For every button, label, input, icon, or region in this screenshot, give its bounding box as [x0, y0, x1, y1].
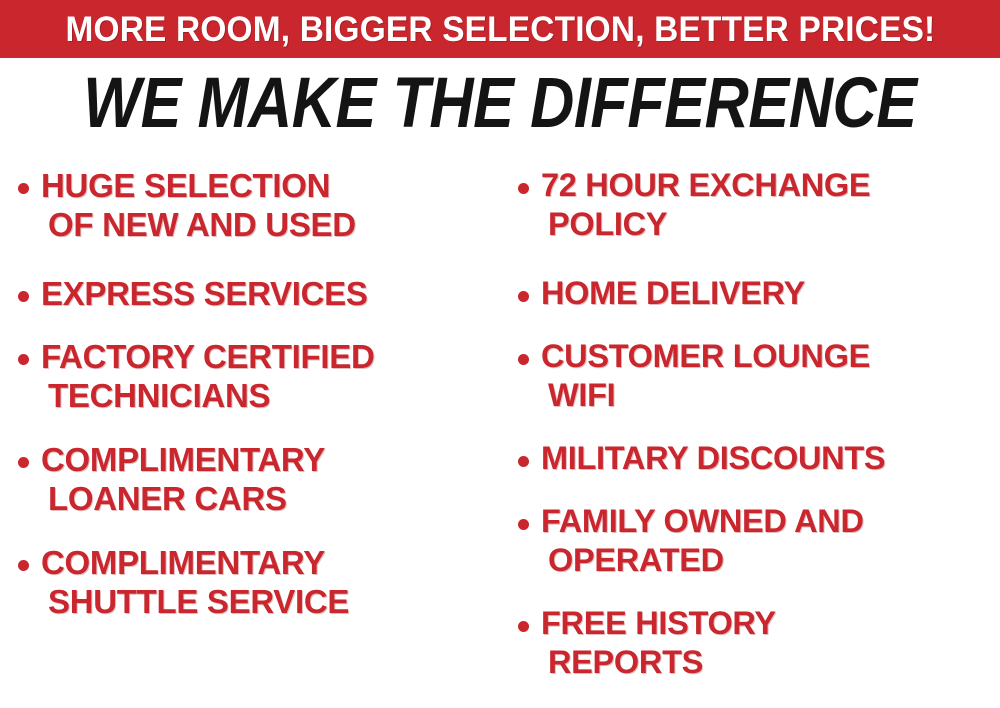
- list-item-line-1: FACTORY CERTIFIED: [41, 338, 375, 375]
- bullet-dot-icon: [518, 291, 529, 302]
- list-item-line-2: OF NEW AND USED: [41, 205, 500, 244]
- bullet-dot-icon: [518, 354, 529, 365]
- list-item-label: EXPRESS SERVICES: [41, 274, 500, 313]
- list-item: FREE HISTORY REPORTS: [518, 604, 1000, 682]
- top-banner: MORE ROOM, BIGGER SELECTION, BETTER PRIC…: [0, 0, 1000, 58]
- list-item: COMPLIMENTARY SHUTTLE SERVICE: [18, 543, 500, 621]
- list-item-line-1: COMPLIMENTARY: [41, 441, 325, 478]
- list-item-line-1: MILITARY DISCOUNTS: [541, 440, 885, 476]
- list-item-line-2: TECHNICIANS: [41, 376, 500, 415]
- list-item-line-2: LOANER CARS: [41, 479, 500, 518]
- list-item: HOME DELIVERY: [518, 274, 1000, 313]
- bullet-dot-icon: [518, 456, 529, 467]
- bullet-dot-icon: [518, 183, 529, 194]
- list-item-line-1: 72 HOUR EXCHANGE: [541, 167, 870, 203]
- list-item-label: COMPLIMENTARY LOANER CARS: [41, 440, 500, 518]
- list-item-line-1: HUGE SELECTION: [41, 167, 330, 204]
- list-item: 72 HOUR EXCHANGE POLICY: [518, 166, 1000, 244]
- bullet-dot-icon: [18, 291, 29, 302]
- list-item-label: HOME DELIVERY: [541, 274, 1000, 313]
- bullet-dot-icon: [18, 560, 29, 571]
- list-item-line-1: EXPRESS SERVICES: [41, 275, 368, 312]
- list-item: CUSTOMER LOUNGE WIFI: [518, 337, 1000, 415]
- bullet-dot-icon: [18, 183, 29, 194]
- benefits-column-left: HUGE SELECTION OF NEW AND USED EXPRESS S…: [0, 152, 500, 647]
- list-item-line-2: OPERATED: [541, 541, 1000, 580]
- list-item-line-1: CUSTOMER LOUNGE: [541, 338, 870, 374]
- benefits-columns: HUGE SELECTION OF NEW AND USED EXPRESS S…: [0, 152, 1000, 694]
- page-title: WE MAKE THE DIFFERENCE: [83, 66, 916, 140]
- list-item-line-2: SHUTTLE SERVICE: [41, 582, 500, 621]
- list-item-label: FACTORY CERTIFIED TECHNICIANS: [41, 337, 500, 415]
- bullet-dot-icon: [518, 621, 529, 632]
- benefits-column-right: 72 HOUR EXCHANGE POLICY HOME DELIVERY CU…: [500, 152, 1000, 708]
- list-item: FACTORY CERTIFIED TECHNICIANS: [18, 337, 500, 415]
- list-item-line-2: POLICY: [541, 205, 1000, 244]
- list-item: MILITARY DISCOUNTS: [518, 439, 1000, 478]
- list-item-label: FREE HISTORY REPORTS: [541, 604, 1000, 682]
- list-item: COMPLIMENTARY LOANER CARS: [18, 440, 500, 518]
- list-item: HUGE SELECTION OF NEW AND USED: [18, 166, 500, 244]
- list-item: EXPRESS SERVICES: [18, 274, 500, 313]
- bullet-dot-icon: [18, 457, 29, 468]
- list-item-label: 72 HOUR EXCHANGE POLICY: [541, 166, 1000, 244]
- list-item-line-1: FREE HISTORY: [541, 605, 776, 641]
- list-item: FAMILY OWNED AND OPERATED: [518, 502, 1000, 580]
- list-item-line-1: HOME DELIVERY: [541, 275, 805, 311]
- list-item-line-1: FAMILY OWNED AND: [541, 503, 864, 539]
- headline-container: WE MAKE THE DIFFERENCE: [0, 62, 1000, 144]
- list-item-line-2: WIFI: [541, 376, 1000, 415]
- list-item-label: MILITARY DISCOUNTS: [541, 439, 1000, 478]
- list-item-label: CUSTOMER LOUNGE WIFI: [541, 337, 1000, 415]
- list-item-label: COMPLIMENTARY SHUTTLE SERVICE: [41, 543, 500, 621]
- list-item-line-1: COMPLIMENTARY: [41, 544, 325, 581]
- bullet-dot-icon: [18, 354, 29, 365]
- bullet-dot-icon: [518, 519, 529, 530]
- banner-headline-text: MORE ROOM, BIGGER SELECTION, BETTER PRIC…: [65, 12, 935, 47]
- list-item-label: FAMILY OWNED AND OPERATED: [541, 502, 1000, 580]
- list-item-line-2: REPORTS: [541, 643, 1000, 682]
- promo-poster: MORE ROOM, BIGGER SELECTION, BETTER PRIC…: [0, 0, 1000, 694]
- list-item-label: HUGE SELECTION OF NEW AND USED: [41, 166, 500, 244]
